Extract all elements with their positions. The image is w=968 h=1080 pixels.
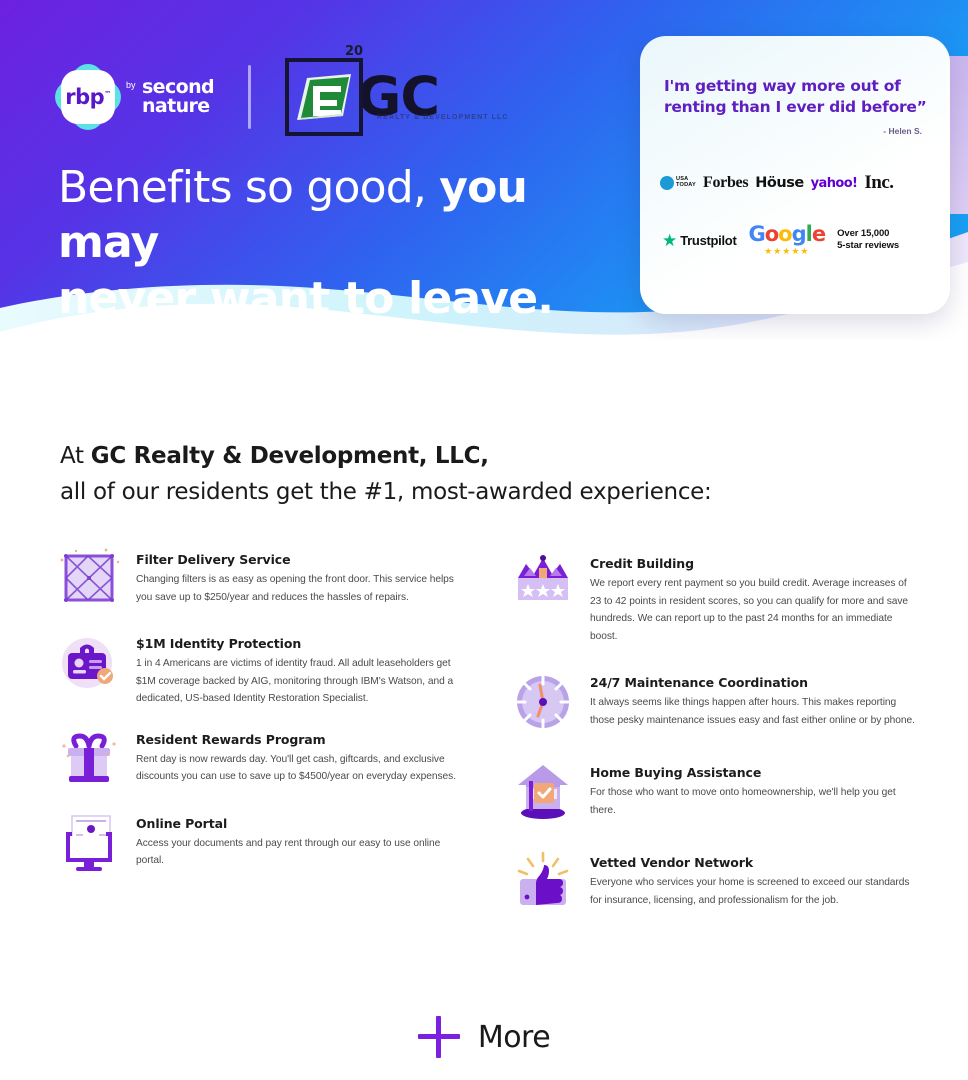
trademark-icon: ™ [104,90,111,98]
heading-line2: all of our residents get the #1, most-aw… [60,479,711,505]
testimonial-quote: I'm getting way more out of renting than… [664,76,930,118]
headline-part-3: never want to leave. [58,273,553,324]
hero-headline: Benefits so good, you may never want to … [58,160,618,326]
benefit-item: Vetted Vendor Network Everyone who servi… [510,849,916,915]
benefit-item: Filter Delivery Service Changing filters… [56,546,462,612]
benefit-item: 24/7 Maintenance Coordination It always … [510,669,916,735]
testimonial-attribution: - Helen S. [883,126,922,136]
reviews-line2: 5-star reviews [837,240,899,252]
benefit-title: Home Buying Assistance [590,765,916,780]
inc-logo: Inc. [864,172,893,194]
identity-shield-icon [56,630,122,696]
google-wordmark: Google [748,222,825,246]
anniversary-badge: 20 [345,44,363,59]
forbes-logo: Forbes [703,174,748,192]
more-label: More [478,1020,550,1055]
heading-prefix: At [60,443,91,469]
benefit-description: It always seems like things happen after… [590,694,916,729]
plus-icon[interactable] [418,1016,460,1058]
gift-icon [56,726,122,792]
house-logo: Höuse [755,175,803,191]
benefit-description: Access your documents and pay rent throu… [136,835,462,870]
benefit-title: Resident Rewards Program [136,732,462,747]
headline-part-1: Benefits so good, [58,162,439,213]
benefit-item: Home Buying Assistance For those who wan… [510,759,916,825]
gc-subtitle: REALTY & DEVELOPMENT LLC [377,114,509,121]
partner-name-line2: nature [142,97,214,116]
logo-row: rbp™ by second nature [58,58,439,136]
benefits-column-left: Filter Delivery Service Changing filters… [56,546,462,933]
benefit-title: $1M Identity Protection [136,636,462,651]
benefit-title: Filter Delivery Service [136,552,462,567]
press-logos-row: USA TODAY Forbes Höuse yahoo! Inc. [660,172,936,194]
benefit-title: Vetted Vendor Network [590,855,916,870]
benefit-item: Resident Rewards Program Rent day is now… [56,726,462,792]
benefit-item: Credit Building We report every rent pay… [510,550,916,645]
usa-today-logo: USA TODAY [660,176,696,190]
second-nature-lockup: by second nature [126,78,214,117]
filter-icon [56,546,122,612]
gc-logo-frame: 20 [285,58,363,136]
gc-spiral-book-icon [293,68,359,132]
gc-realty-logo: 20 GC REALTY & DEVELOPMENT LLC [285,58,439,136]
rbp-logo: rbp™ [58,67,118,127]
reviews-count: Over 15,000 5-star reviews [837,228,899,252]
benefit-description: We report every rent payment so you buil… [590,575,916,645]
clock-icon [510,669,576,735]
benefit-description: Changing filters is as easy as opening t… [136,571,462,606]
google-logo: Google ★★★★★ [748,224,825,256]
benefit-description: 1 in 4 Americans are victims of identity… [136,655,462,708]
benefit-description: Everyone who services your home is scree… [590,874,916,909]
testimonial-card: I'm getting way more out of renting than… [640,36,950,314]
rbp-wordmark: rbp™ [65,85,110,109]
more-button[interactable]: More [0,1016,968,1058]
benefit-title: Online Portal [136,816,462,831]
hero-section: rbp™ by second nature [0,0,968,340]
trustpilot-logo: ★ Trustpilot [662,232,736,249]
section-heading: At GC Realty & Development, LLC, all of … [60,438,900,511]
usa-today-line2: TODAY [676,183,696,189]
by-label: by [126,78,136,90]
benefit-item: Online Portal Access your documents and … [56,810,462,876]
yahoo-logo: yahoo! [811,176,858,191]
reviews-line1: Over 15,000 [837,228,899,240]
trustpilot-star-icon: ★ [662,232,677,249]
benefit-title: 24/7 Maintenance Coordination [590,675,916,690]
trustpilot-label: Trustpilot [680,233,736,248]
usa-today-dot-icon [660,176,674,190]
benefit-description: Rent day is now rewards day. You'll get … [136,751,462,786]
benefits-grid: Filter Delivery Service Changing filters… [56,546,916,933]
ratings-row: ★ Trustpilot Google ★★★★★ Over 15,000 5-… [662,224,940,256]
benefits-flyer-page: rbp™ by second nature [0,0,968,1080]
monitor-portal-icon [56,810,122,876]
credit-badge-icon [510,550,576,616]
benefit-title: Credit Building [590,556,916,571]
heading-company: GC Realty & Development, LLC, [91,443,489,469]
benefit-description: For those who want to move onto homeowne… [590,784,916,819]
google-stars-icon: ★★★★★ [748,247,825,256]
benefit-item: $1M Identity Protection 1 in 4 Americans… [56,630,462,708]
benefits-column-right: Credit Building We report every rent pay… [510,546,916,933]
home-icon [510,759,576,825]
logo-divider [248,65,251,129]
thumbs-up-icon [510,849,576,915]
